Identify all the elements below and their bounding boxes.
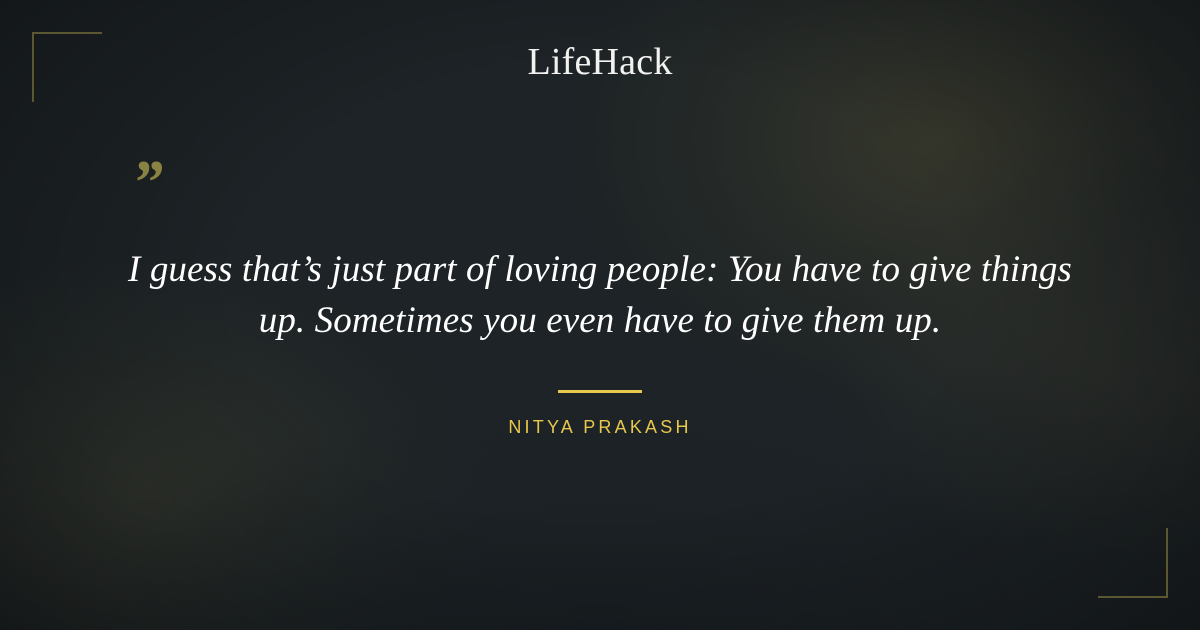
gold-divider	[558, 390, 642, 393]
quote-author: NITYA PRAKASH	[100, 417, 1100, 438]
brand-logo[interactable]: LifeHack	[0, 40, 1200, 84]
quote-text: I guess that’s just part of loving peopl…	[100, 244, 1100, 346]
quote-card-canvas: LifeHack ” I guess that’s just part of l…	[0, 0, 1200, 630]
quotation-mark-icon: ”	[132, 160, 1100, 208]
quote-block: ” I guess that’s just part of loving peo…	[100, 160, 1100, 438]
